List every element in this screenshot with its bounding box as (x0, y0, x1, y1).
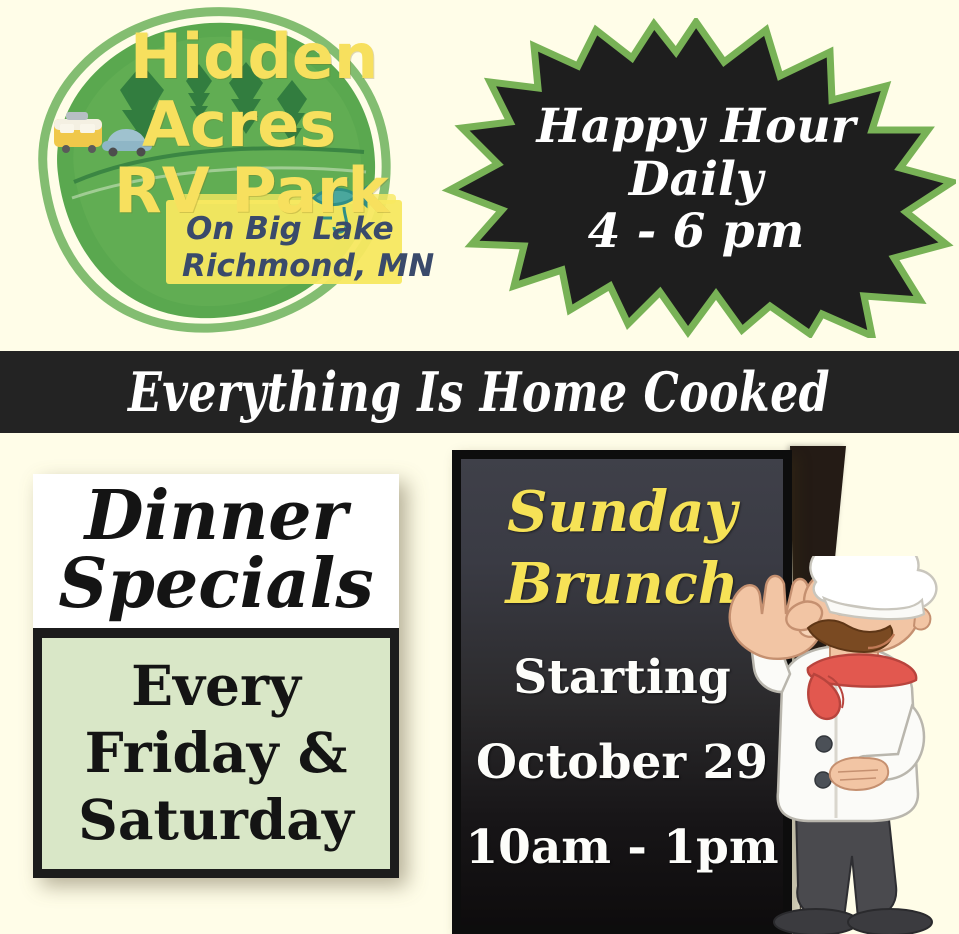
dinner-specials-days-box: Every Friday & Saturday (33, 628, 399, 878)
cartoon-chef-icon (712, 556, 959, 934)
dinner-title-line-2: Specials (33, 550, 399, 618)
dinner-day-line-1: Every (42, 652, 390, 719)
chef-toque-icon (810, 556, 936, 619)
poster-canvas: Hidden Acres RV Park On Big Lake Richmon… (0, 0, 959, 934)
logo-location-line-1: On Big Lake (186, 211, 394, 247)
home-cooked-banner: Everything Is Home Cooked (0, 351, 959, 433)
logo-name-line-1: Hidden (130, 20, 378, 93)
dinner-specials-title-box: Dinner Specials (33, 474, 399, 628)
dinner-day-line-3: Saturday (42, 786, 390, 853)
dinner-title-line-1: Dinner (33, 482, 399, 550)
logo-name-line-2: Acres (142, 88, 336, 161)
logo-location-line-2: Richmond, MN (182, 248, 434, 284)
dinner-day-line-2: Friday & (42, 719, 390, 786)
banner-headline: Everything Is Home Cooked (129, 360, 831, 424)
hidden-acres-logo: Hidden Acres RV Park On Big Lake Richmon… (14, 2, 414, 342)
happy-hour-starburst: Happy Hour Daily 4 - 6 pm (436, 18, 956, 338)
starburst-shape (436, 18, 956, 338)
dinner-specials-panel: Dinner Specials Every Friday & Saturday (33, 474, 399, 878)
chef-artwork (712, 556, 959, 934)
brunch-title-line-1: Sunday (461, 477, 783, 549)
